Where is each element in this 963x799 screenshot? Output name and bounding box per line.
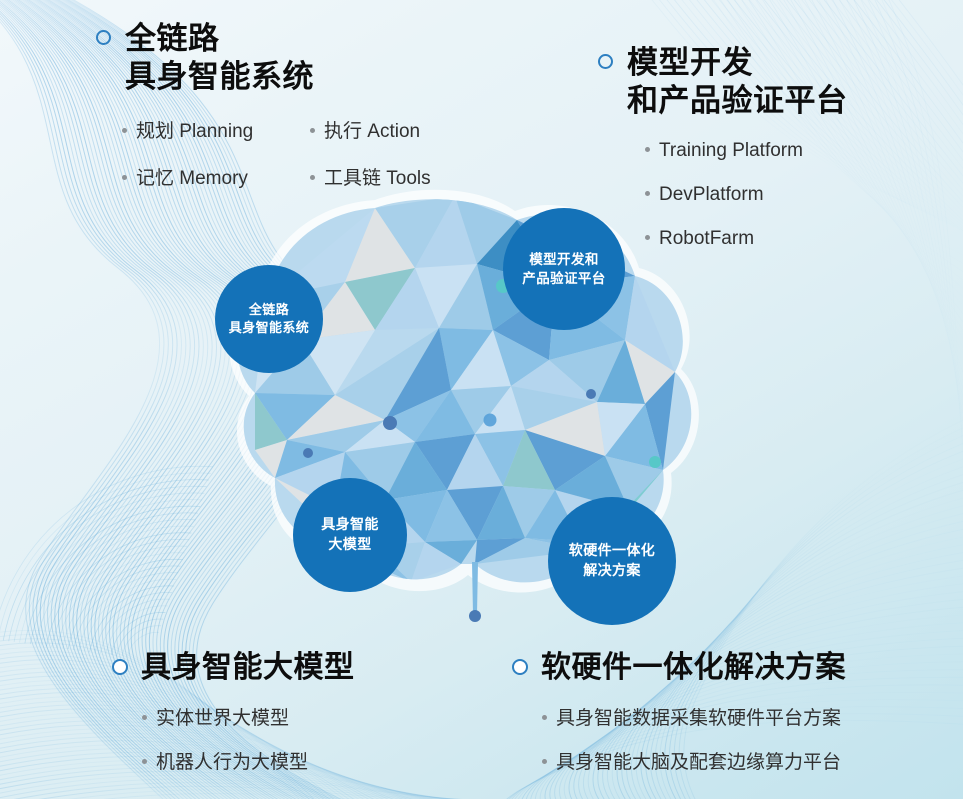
list-item: 具身智能数据采集软硬件平台方案 xyxy=(542,703,846,730)
list-item-label: 具身智能大脑及配套边缘算力平台 xyxy=(556,747,841,774)
ring-icon xyxy=(96,30,111,45)
section-header: 模型开发 和产品验证平台 xyxy=(598,44,848,120)
list-item: 实体世界大模型 xyxy=(142,703,355,730)
list-item: RobotFarm xyxy=(645,228,848,250)
list-item-label: 记忆 Memory xyxy=(136,163,248,190)
list-item-label: Training Platform xyxy=(659,140,803,162)
section-header: 软硬件一体化解决方案 xyxy=(512,650,846,687)
bullet-dot-icon xyxy=(122,128,127,133)
section-title: 具身智能大模型 xyxy=(141,650,355,687)
brain-stem xyxy=(472,562,478,614)
list-item-label: 执行 Action xyxy=(324,116,420,143)
bullet-dot-icon xyxy=(645,191,650,196)
bullet-dot-icon xyxy=(122,175,127,180)
bullet-dot-icon xyxy=(645,235,650,240)
infographic-canvas: 全链路 具身智能系统 模型开发和 产品验证平台 具身智能 大模型 软硬件一体化 … xyxy=(0,0,963,799)
bullet-dot-icon xyxy=(142,715,147,720)
bullet-dot-icon xyxy=(142,759,147,764)
bullet-list: Training Platform DevPlatform RobotFarm xyxy=(645,140,848,250)
section-title: 软硬件一体化解决方案 xyxy=(541,650,846,687)
bullet-dot-icon xyxy=(310,128,315,133)
list-item-label: 规划 Planning xyxy=(136,116,253,143)
bullet-dot-icon xyxy=(310,175,315,180)
section-model-development-platform: 模型开发 和产品验证平台 Training Platform DevPlatfo… xyxy=(598,44,848,272)
ring-icon xyxy=(112,659,128,675)
bullet-list: 具身智能数据采集软硬件平台方案 具身智能大脑及配套边缘算力平台 xyxy=(542,703,846,774)
list-item-label: DevPlatform xyxy=(659,184,764,206)
list-item: 具身智能大脑及配套边缘算力平台 xyxy=(542,747,846,774)
bullet-columns: 规划 Planning 记忆 Memory 执行 Action 工具链 Tool… xyxy=(122,116,431,210)
badge-embodied-large-model[interactable]: 具身智能 大模型 xyxy=(293,478,407,592)
list-item: 记忆 Memory xyxy=(122,163,310,190)
list-item-label: 具身智能数据采集软硬件平台方案 xyxy=(556,703,841,730)
list-item: 执行 Action xyxy=(310,116,431,143)
list-item: 规划 Planning xyxy=(122,116,310,143)
section-header: 全链路 具身智能系统 xyxy=(96,20,431,96)
ring-icon xyxy=(598,54,613,69)
bullet-dot-icon xyxy=(645,147,650,152)
badge-hardware-software-solution[interactable]: 软硬件一体化 解决方案 xyxy=(548,497,676,625)
bullet-dot-icon xyxy=(542,715,547,720)
ring-icon xyxy=(512,659,528,675)
badge-full-chain-system[interactable]: 全链路 具身智能系统 xyxy=(215,265,323,373)
list-item-label: 实体世界大模型 xyxy=(156,703,289,730)
list-item: DevPlatform xyxy=(645,184,848,206)
section-title: 模型开发 和产品验证平台 xyxy=(627,44,848,120)
bullet-list-right: 执行 Action 工具链 Tools xyxy=(310,116,431,210)
list-item: 机器人行为大模型 xyxy=(142,747,355,774)
section-full-chain-system: 全链路 具身智能系统 规划 Planning 记忆 Memory 执行 Acti… xyxy=(96,20,431,210)
list-item-label: 机器人行为大模型 xyxy=(156,747,308,774)
bullet-list: 实体世界大模型 机器人行为大模型 xyxy=(142,703,355,774)
section-header: 具身智能大模型 xyxy=(112,650,355,687)
section-hardware-software-solution: 软硬件一体化解决方案 具身智能数据采集软硬件平台方案 具身智能大脑及配套边缘算力… xyxy=(512,650,846,791)
list-item-label: 工具链 Tools xyxy=(324,163,431,190)
section-embodied-large-model: 具身智能大模型 实体世界大模型 机器人行为大模型 xyxy=(112,650,355,791)
section-title: 全链路 具身智能系统 xyxy=(125,20,314,96)
list-item-label: RobotFarm xyxy=(659,228,754,250)
bullet-dot-icon xyxy=(542,759,547,764)
list-item: Training Platform xyxy=(645,140,848,162)
list-item: 工具链 Tools xyxy=(310,163,431,190)
bullet-list-left: 规划 Planning 记忆 Memory xyxy=(122,116,310,210)
